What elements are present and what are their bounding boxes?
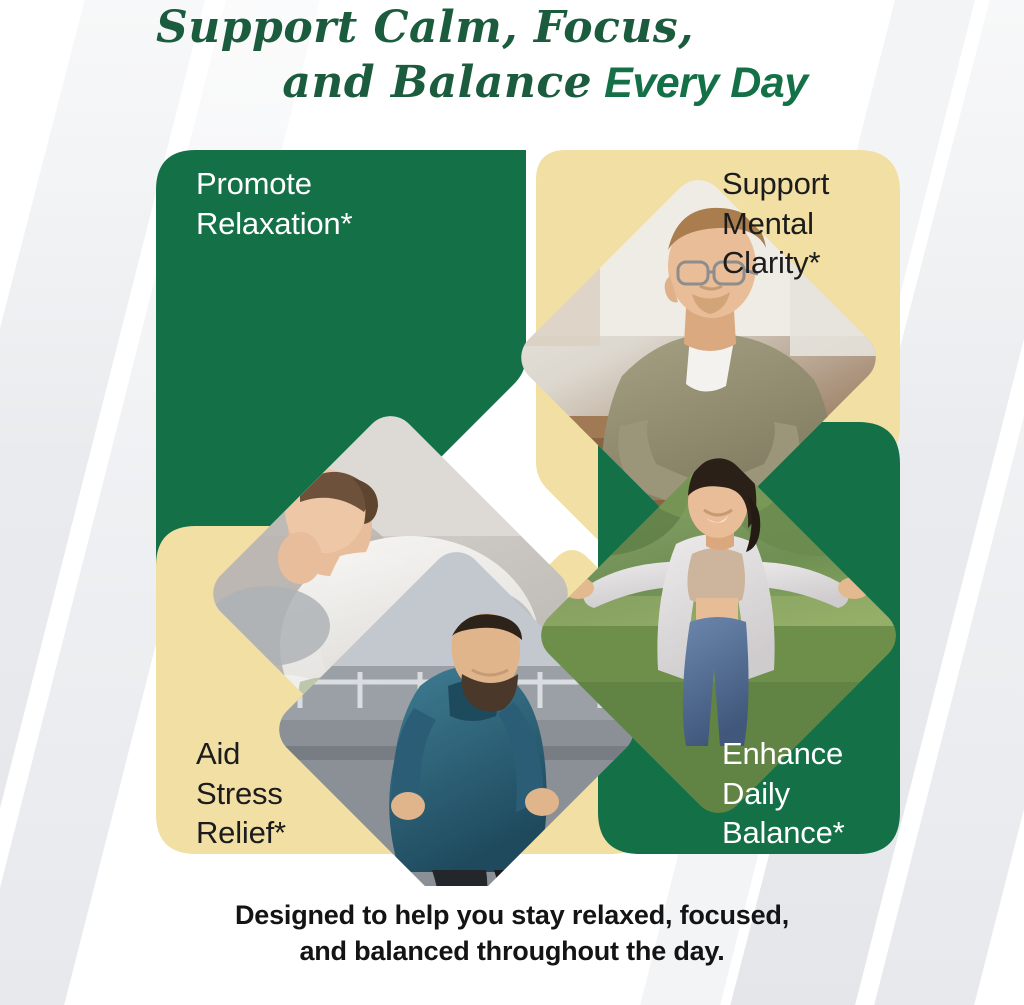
card-label-enhance-daily-balance: Enhance Daily Balance* — [722, 734, 845, 853]
headline-line-2: and BalanceEvery Day — [150, 57, 940, 108]
headline: Support Calm, Focus, and BalanceEvery Da… — [0, 0, 1024, 120]
card-label-aid-stress-relief: Aid Stress Relief* — [196, 734, 286, 853]
headline-line-1: Support Calm, Focus, — [0, 2, 850, 53]
headline-emphasis-text: Every Day — [604, 59, 808, 107]
footer-caption: Designed to help you stay relaxed, focus… — [0, 898, 1024, 970]
infographic-canvas: Support Calm, Focus, and BalanceEvery Da… — [0, 0, 1024, 1005]
card-label-promote-relaxation: Promote Relaxation* — [196, 164, 352, 243]
card-label-support-mental-clarity: Support Mental Clarity* — [722, 164, 829, 283]
headline-script-text: and Balance — [282, 57, 592, 108]
benefit-card-grid — [0, 126, 1024, 886]
